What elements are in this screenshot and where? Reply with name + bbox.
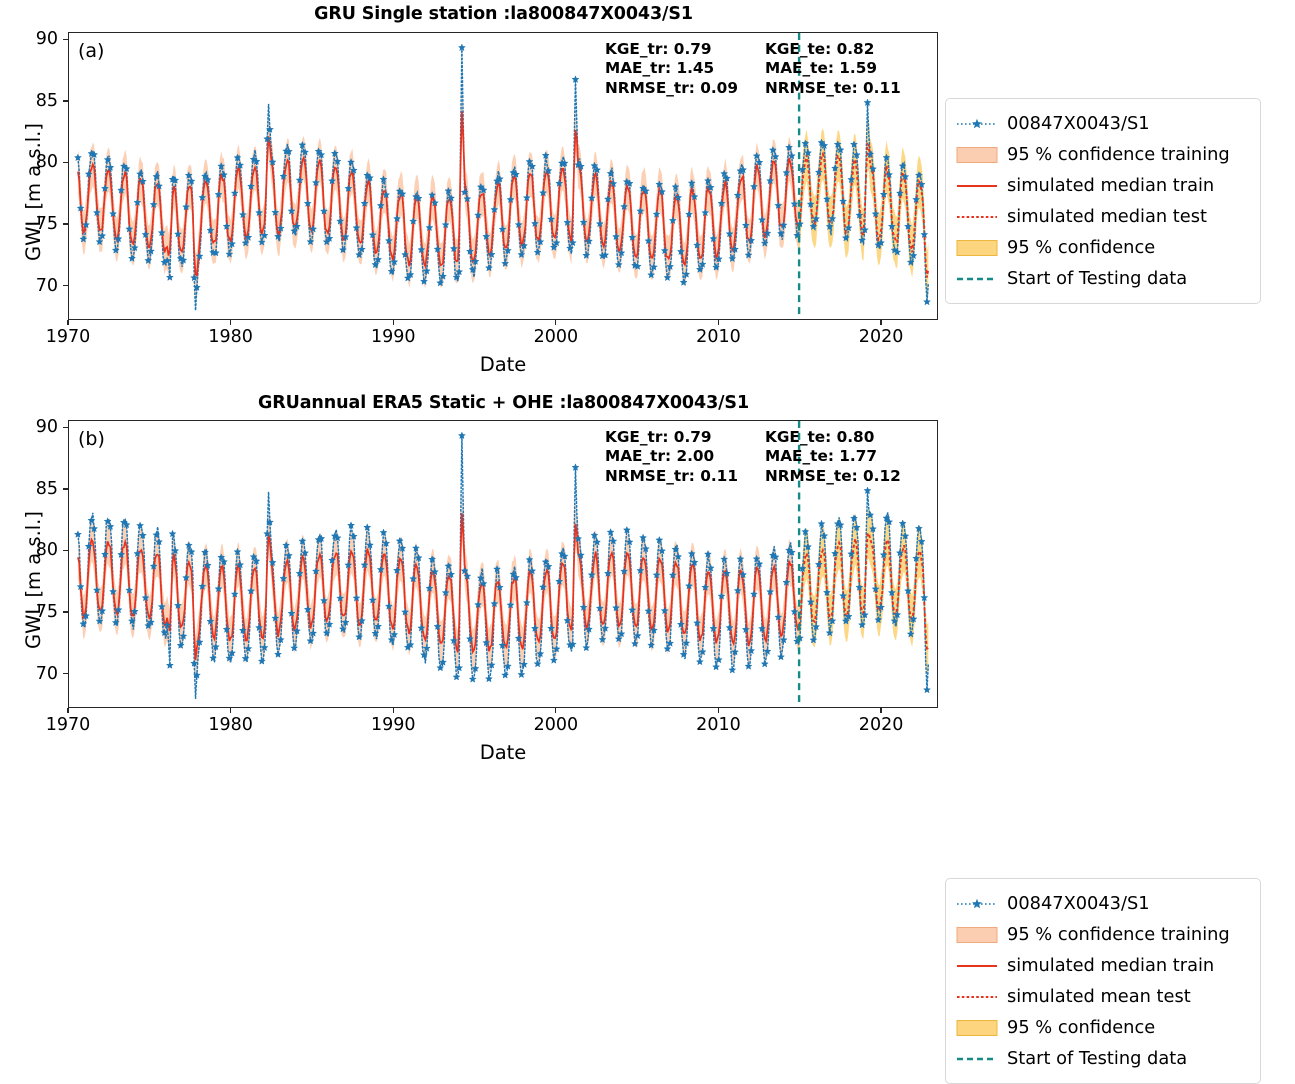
y-axis-tick-mark xyxy=(63,162,68,163)
legend-key-wrapper xyxy=(956,175,998,197)
metric-value: KGE_te: 0.82 xyxy=(765,40,901,59)
x-axis-tick-mark xyxy=(67,320,68,325)
legend-item[interactable]: 95 % confidence xyxy=(956,232,1248,263)
x-axis-tick-label: 2010 xyxy=(696,715,741,735)
legend-item-label: Start of Testing data xyxy=(1007,268,1187,289)
legend-item-label: simulated median train xyxy=(1007,175,1214,196)
legend-item-label: simulated median test xyxy=(1007,206,1207,227)
x-axis-tick-mark xyxy=(555,320,556,325)
legend-item[interactable]: Start of Testing data xyxy=(956,1043,1248,1074)
metric-value: MAE_tr: 1.45 xyxy=(605,59,738,78)
x-axis-tick-mark xyxy=(393,708,394,713)
x-axis-label: Date xyxy=(68,741,938,764)
y-axis-tick-mark xyxy=(63,285,68,286)
metric-value: MAE_tr: 2.00 xyxy=(605,447,738,466)
y-axis-tick-mark xyxy=(63,488,68,489)
legend-key-solid-line-red xyxy=(956,175,998,197)
metrics-test-column: KGE_te: 0.80MAE_te: 1.77NRMSE_te: 0.12 xyxy=(765,428,901,486)
x-axis-tick-label: 2020 xyxy=(859,327,904,347)
legend-key-wrapper xyxy=(956,206,998,228)
metric-value: KGE_tr: 0.79 xyxy=(605,428,738,447)
y-axis-tick-label: 85 xyxy=(12,91,58,111)
legend-item[interactable]: simulated mean test xyxy=(956,981,1248,1012)
metric-value: NRMSE_tr: 0.09 xyxy=(605,79,738,98)
x-axis-tick-label: 2000 xyxy=(534,327,579,347)
legend-item[interactable]: simulated median train xyxy=(956,170,1248,201)
legend-item-label: 95 % confidence xyxy=(1007,1017,1155,1038)
legend-item-label: 00847X0043/S1 xyxy=(1007,893,1150,914)
y-axis-tick-mark xyxy=(63,39,68,40)
legend-key-wrapper xyxy=(956,986,998,1008)
legend-key-wrapper xyxy=(956,144,998,166)
legend-item[interactable]: 95 % confidence training xyxy=(956,919,1248,950)
legend-item[interactable]: Start of Testing data xyxy=(956,263,1248,294)
y-axis-tick-mark xyxy=(63,550,68,551)
x-axis-tick-label: 1970 xyxy=(46,715,91,735)
legend-item[interactable]: 95 % confidence training xyxy=(956,139,1248,170)
x-axis-tick-mark xyxy=(718,320,719,325)
panel-a-letter: (a) xyxy=(78,40,104,62)
legend-item[interactable]: 00847X0043/S1 xyxy=(956,108,1248,139)
panel-a-metrics: KGE_tr: 0.79MAE_tr: 1.45NRMSE_tr: 0.09KG… xyxy=(605,40,901,98)
x-axis-tick-label: 2020 xyxy=(859,715,904,735)
legend-item-label: Start of Testing data xyxy=(1007,1048,1187,1069)
metric-value: MAE_te: 1.77 xyxy=(765,447,901,466)
legend-key-dashed-line-teal xyxy=(956,1048,998,1070)
x-axis-tick-mark xyxy=(393,320,394,325)
panel-b-letter: (b) xyxy=(78,428,105,450)
legend-key-filled-patch-yellow xyxy=(956,237,998,259)
legend-key-dotted-line-with-star-marker xyxy=(956,893,998,915)
legend-key-dotted-line-red xyxy=(956,986,998,1008)
x-axis-tick-label: 1970 xyxy=(46,327,91,347)
star-marker-icon xyxy=(973,119,981,127)
star-marker-icon xyxy=(973,899,981,907)
metrics-train-column: KGE_tr: 0.79MAE_tr: 2.00NRMSE_tr: 0.11 xyxy=(605,428,738,486)
metric-value: MAE_te: 1.59 xyxy=(765,59,901,78)
panel-b-title: GRUannual ERA5 Static + OHE :la800847X00… xyxy=(68,393,939,413)
legend-key-dotted-line-with-star-marker xyxy=(956,113,998,135)
legend-item-label: 00847X0043/S1 xyxy=(1007,113,1150,134)
y-axis-tick-mark xyxy=(63,100,68,101)
legend-item-label: simulated median train xyxy=(1007,955,1214,976)
x-axis-tick-label: 1990 xyxy=(371,327,416,347)
legend-item-label: 95 % confidence xyxy=(1007,237,1155,258)
legend-key-wrapper xyxy=(956,1017,998,1039)
metrics-test-column: KGE_te: 0.82MAE_te: 1.59NRMSE_te: 0.11 xyxy=(765,40,901,98)
x-axis-tick-label: 2000 xyxy=(534,715,579,735)
y-axis-tick-mark xyxy=(63,427,68,428)
y-axis-tick-label: 70 xyxy=(12,664,58,684)
x-axis-tick-label: 1990 xyxy=(371,715,416,735)
legend-item[interactable]: simulated median test xyxy=(956,201,1248,232)
legend-key-wrapper xyxy=(956,113,998,135)
y-axis-tick-label: 90 xyxy=(12,417,58,437)
x-axis-tick-mark xyxy=(230,320,231,325)
x-axis-label: Date xyxy=(68,353,938,376)
legend-item[interactable]: 00847X0043/S1 xyxy=(956,888,1248,919)
y-axis-tick-mark xyxy=(63,673,68,674)
legend-key-wrapper xyxy=(956,893,998,915)
legend-key-filled-patch-yellow xyxy=(956,1017,998,1039)
panel-a-legend: 00847X0043/S195 % confidence trainingsim… xyxy=(945,98,1261,304)
x-axis-tick-label: 2010 xyxy=(696,327,741,347)
x-axis-tick-mark xyxy=(67,708,68,713)
legend-key-dashed-line-teal xyxy=(956,268,998,290)
metric-value: NRMSE_tr: 0.11 xyxy=(605,467,738,486)
legend-key-wrapper xyxy=(956,924,998,946)
chart-panel-b: GRUannual ERA5 Static + OHE :la800847X00… xyxy=(0,381,1295,781)
x-axis-tick-label: 1980 xyxy=(208,327,253,347)
legend-key-solid-line-red xyxy=(956,955,998,977)
x-axis-tick-label: 1980 xyxy=(208,715,253,735)
panel-b-metrics: KGE_tr: 0.79MAE_tr: 2.00NRMSE_tr: 0.11KG… xyxy=(605,428,901,486)
legend-item-label: 95 % confidence training xyxy=(1007,924,1230,945)
legend-key-wrapper xyxy=(956,1048,998,1070)
panel-b-legend: 00847X0043/S195 % confidence trainingsim… xyxy=(945,878,1261,1084)
metric-value: KGE_tr: 0.79 xyxy=(605,40,738,59)
legend-key-wrapper xyxy=(956,955,998,977)
legend-key-dotted-line-red xyxy=(956,206,998,228)
legend-key-filled-patch-orange xyxy=(956,144,998,166)
legend-item[interactable]: simulated median train xyxy=(956,950,1248,981)
y-axis-tick-label: 85 xyxy=(12,479,58,499)
metrics-train-column: KGE_tr: 0.79MAE_tr: 1.45NRMSE_tr: 0.09 xyxy=(605,40,738,98)
confidence-band-test xyxy=(799,119,929,304)
x-axis-tick-mark xyxy=(880,708,881,713)
x-axis-tick-mark xyxy=(880,320,881,325)
legend-key-filled-patch-orange xyxy=(956,924,998,946)
y-axis-label: GWL [m a.s.l.] xyxy=(22,123,45,261)
x-axis-tick-mark xyxy=(230,708,231,713)
legend-item-label: 95 % confidence training xyxy=(1007,144,1230,165)
y-axis-tick-mark xyxy=(63,223,68,224)
legend-key-wrapper xyxy=(956,268,998,290)
metric-value: NRMSE_te: 0.11 xyxy=(765,79,901,98)
chart-panel-a: GRU Single station :la800847X0043/S1 (a)… xyxy=(0,0,1295,390)
panel-a-title: GRU Single station :la800847X0043/S1 xyxy=(68,4,939,24)
y-axis-label: GWL [m a.s.l.] xyxy=(22,511,45,649)
y-axis-tick-mark xyxy=(63,611,68,612)
x-axis-tick-mark xyxy=(718,708,719,713)
x-axis-tick-mark xyxy=(555,708,556,713)
legend-item[interactable]: 95 % confidence xyxy=(956,1012,1248,1043)
y-axis-tick-label: 90 xyxy=(12,29,58,49)
legend-key-wrapper xyxy=(956,237,998,259)
metric-value: KGE_te: 0.80 xyxy=(765,428,901,447)
y-axis-tick-label: 70 xyxy=(12,276,58,296)
metric-value: NRMSE_te: 0.12 xyxy=(765,467,901,486)
legend-item-label: simulated mean test xyxy=(1007,986,1191,1007)
